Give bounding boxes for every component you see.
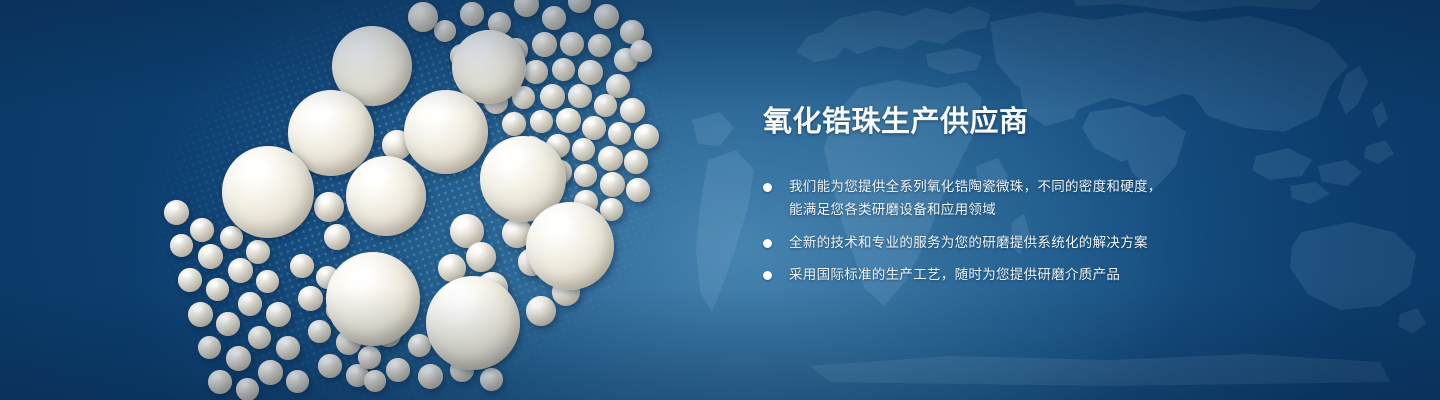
feature-bullet-item: 我们能为您提供全系列氧化锆陶瓷微珠，不同的密度和硬度， 能满足您各类研磨设备和应… bbox=[763, 175, 1363, 221]
bullet-line: 采用国际标准的生产工艺，随时为您提供研磨介质产品 bbox=[789, 263, 1363, 286]
bullet-dot-icon bbox=[763, 271, 772, 280]
banner-headline: 氧化锆珠生产供应商 bbox=[763, 104, 1363, 141]
bullet-line: 我们能为您提供全系列氧化锆陶瓷微珠，不同的密度和硬度， bbox=[789, 175, 1363, 198]
feature-bullet-item: 全新的技术和专业的服务为您的研磨提供系统化的解决方案 bbox=[763, 231, 1363, 254]
feature-bullet-list: 我们能为您提供全系列氧化锆陶瓷微珠，不同的密度和硬度， 能满足您各类研磨设备和应… bbox=[763, 175, 1363, 286]
feature-bullet-item: 采用国际标准的生产工艺，随时为您提供研磨介质产品 bbox=[763, 263, 1363, 286]
banner-copy: 氧化锆珠生产供应商 我们能为您提供全系列氧化锆陶瓷微珠，不同的密度和硬度， 能满… bbox=[763, 104, 1363, 286]
bullet-dot-icon bbox=[763, 239, 772, 248]
bullet-line: 能满足您各类研磨设备和应用领域 bbox=[789, 198, 1363, 221]
bullet-line: 全新的技术和专业的服务为您的研磨提供系统化的解决方案 bbox=[789, 231, 1363, 254]
promo-banner: 氧化锆珠生产供应商 我们能为您提供全系列氧化锆陶瓷微珠，不同的密度和硬度， 能满… bbox=[0, 0, 1440, 400]
bullet-dot-icon bbox=[763, 183, 772, 192]
